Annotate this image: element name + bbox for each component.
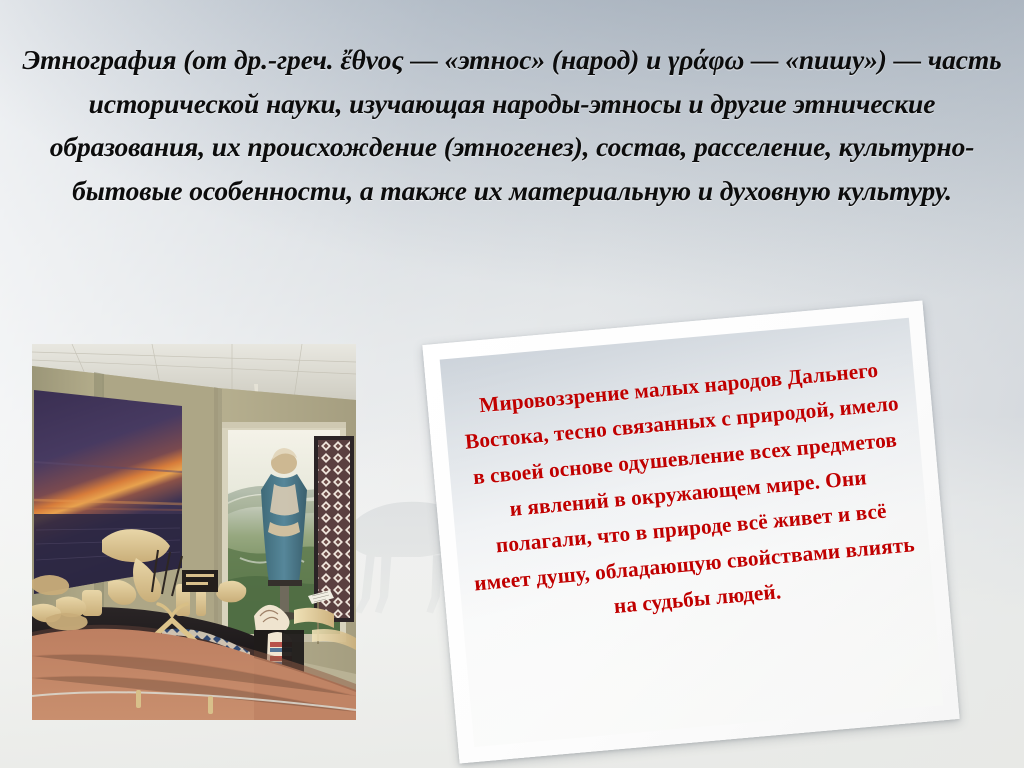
quote-worldview-text: Мировоззрение малых народов Дальнего Вос… xyxy=(456,351,919,637)
museum-photo-container xyxy=(32,344,356,720)
presentation-slide: Этнография (от др.-греч. ἔθνος — «этнос»… xyxy=(0,0,1024,768)
quote-white-frame: Мировоззрение малых народов Дальнего Вос… xyxy=(422,301,959,764)
museum-ethnography-exhibit-photo xyxy=(32,344,356,720)
slide-title-definition-text: Этнография (от др.-греч. ἔθνος — «этнос»… xyxy=(18,38,1006,213)
quote-panel-interior: Мировоззрение малых народов Дальнего Вос… xyxy=(440,318,944,747)
